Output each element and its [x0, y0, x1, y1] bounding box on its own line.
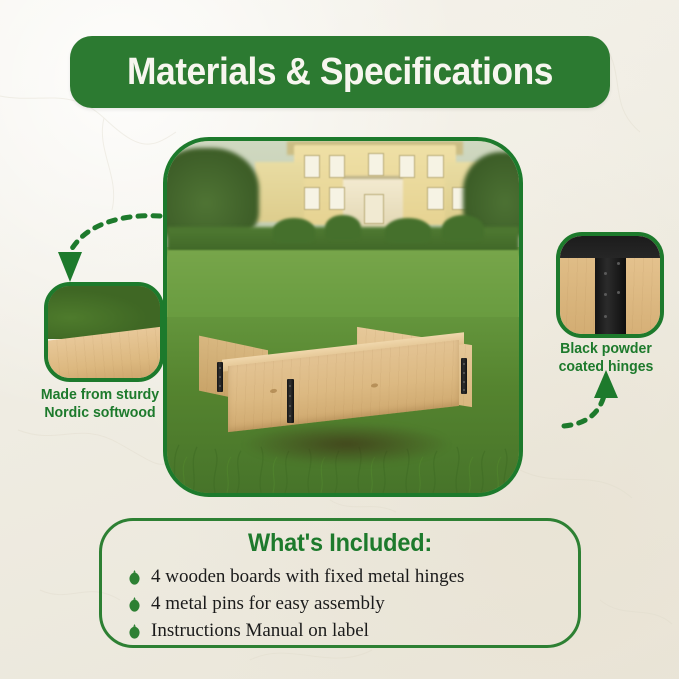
whats-included-box: What's Included: 4 wooden boards with fi…	[99, 518, 581, 648]
callout-label-hinge: Black powder coated hinges	[538, 340, 673, 375]
list-item-label: 4 metal pins for easy assembly	[151, 593, 385, 615]
lawn-background	[167, 250, 519, 327]
inset-hinge-top-bar	[560, 236, 660, 258]
garden-scene	[167, 141, 519, 493]
shrub	[273, 218, 315, 243]
house-door	[364, 194, 384, 224]
house-window	[304, 155, 320, 178]
corner-hinge-front	[287, 379, 294, 423]
background-tree-left	[163, 148, 259, 240]
house-window	[329, 155, 345, 178]
wood-detail-inset-photo	[44, 282, 164, 382]
house-window	[399, 155, 415, 178]
callout-hinge-line2: coated hinges	[538, 358, 673, 376]
callout-hinge-line1: Black powder	[538, 340, 673, 358]
leaf-bullet-icon	[128, 623, 141, 639]
corner-hinge-left	[217, 362, 223, 392]
shrub	[385, 218, 431, 243]
list-item: 4 wooden boards with fixed metal hinges	[128, 563, 564, 590]
hinge-detail-inset-photo	[556, 232, 664, 338]
leaf-bullet-icon	[128, 569, 141, 585]
house-window	[368, 153, 384, 176]
house-window	[329, 187, 345, 210]
hero-product-photo	[163, 137, 523, 497]
house-window	[427, 187, 443, 210]
list-item-label: Instructions Manual on label	[151, 620, 369, 642]
whats-included-list: 4 wooden boards with fixed metal hinges …	[128, 563, 564, 644]
whats-included-title: What's Included:	[116, 529, 563, 558]
shrub	[325, 215, 360, 240]
house-window	[304, 187, 320, 210]
arrow-to-hinge-inset-icon	[560, 368, 672, 432]
shrub	[442, 215, 484, 241]
corner-hinge-right	[461, 358, 467, 394]
page-title: Materials & Specifications	[127, 53, 553, 91]
list-item: 4 metal pins for easy assembly	[128, 590, 564, 617]
infographic-page: Materials & Specifications	[0, 0, 679, 679]
raised-garden-bed	[199, 317, 488, 437]
header-banner: Materials & Specifications	[70, 36, 610, 108]
arrow-to-wood-inset-icon	[48, 212, 168, 286]
leaf-bullet-icon	[128, 596, 141, 612]
callout-label-wood: Made from sturdy Nordic softwood	[19, 386, 181, 421]
list-item: Instructions Manual on label	[128, 617, 564, 644]
house-wing-left	[255, 162, 304, 222]
list-item-label: 4 wooden boards with fixed metal hinges	[151, 566, 464, 588]
house-window	[427, 155, 443, 178]
callout-wood-line2: Nordic softwood	[19, 404, 181, 422]
callout-wood-line1: Made from sturdy	[19, 386, 181, 404]
